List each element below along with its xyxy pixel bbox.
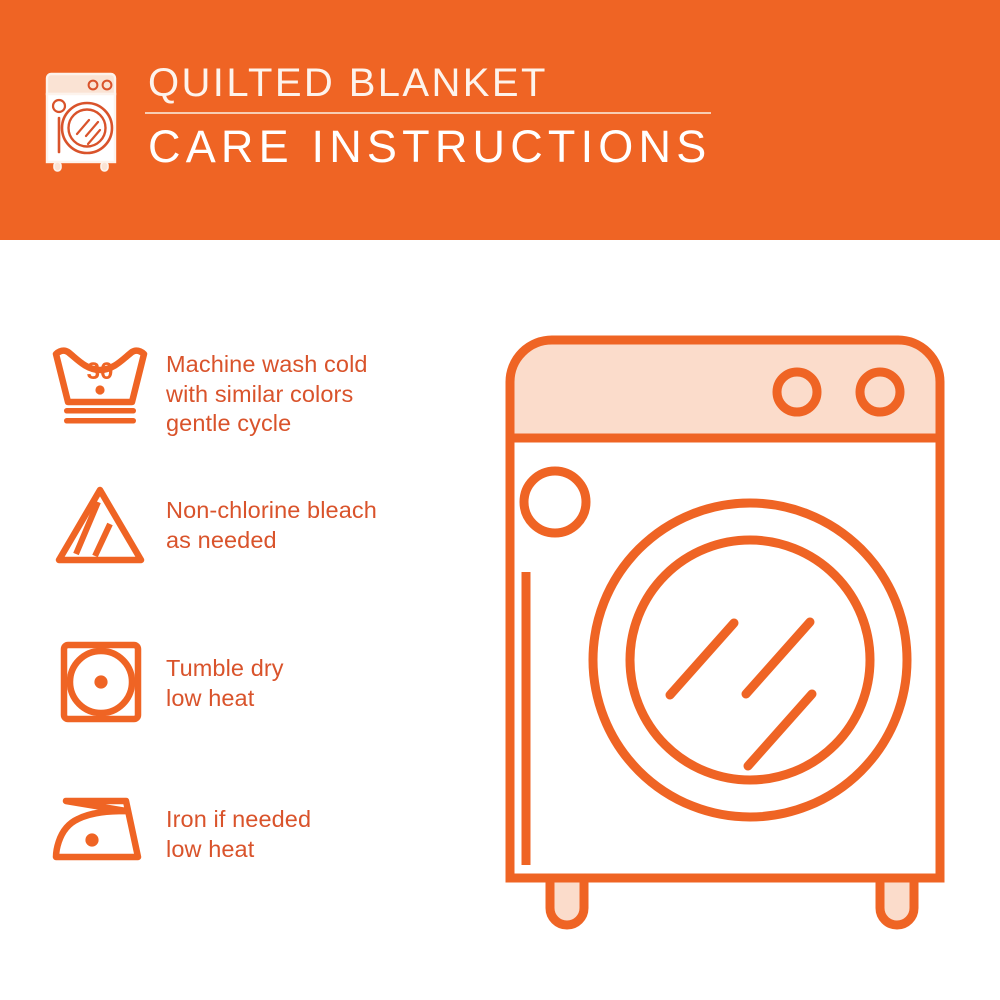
page-title-secondary: CARE INSTRUCTIONS bbox=[145, 122, 711, 172]
wash-dot bbox=[95, 385, 104, 394]
care-icon-wrapper bbox=[48, 785, 166, 875]
leg-right bbox=[880, 878, 914, 925]
care-icon-wrapper: 30 bbox=[48, 340, 166, 430]
care-line: Machine wash cold bbox=[166, 350, 368, 380]
care-icon-wrapper bbox=[48, 638, 166, 728]
knob-left[interactable] bbox=[777, 372, 817, 412]
care-item-tumble-dry: Tumble dry low heat bbox=[48, 638, 488, 728]
care-text-machine-wash: Machine wash cold with similar colors ge… bbox=[166, 340, 368, 439]
page-title-primary: QUILTED BLANKET bbox=[145, 60, 711, 106]
care-text-tumble-dry: Tumble dry low heat bbox=[166, 638, 284, 713]
care-icon-wrapper bbox=[48, 480, 166, 570]
care-text-iron: Iron if needed low heat bbox=[166, 785, 311, 864]
care-line: low heat bbox=[166, 684, 284, 714]
care-item-bleach: Non-chlorine bleach as needed bbox=[48, 480, 488, 570]
care-line: as needed bbox=[166, 526, 377, 556]
care-item-machine-wash: 30 Machine wash cold with similar colors… bbox=[48, 340, 488, 439]
bleach-triangle-icon bbox=[48, 480, 152, 570]
care-line: with similar colors bbox=[166, 380, 368, 410]
washing-machine-illustration bbox=[480, 320, 970, 940]
care-line: gentle cycle bbox=[166, 409, 368, 439]
tumble-dry-icon bbox=[48, 638, 152, 728]
title-divider bbox=[145, 112, 711, 114]
care-line: Tumble dry bbox=[166, 654, 284, 684]
header-banner: QUILTED BLANKET CARE INSTRUCTIONS bbox=[0, 0, 1000, 240]
knob-right[interactable] bbox=[860, 372, 900, 412]
iron-icon bbox=[48, 785, 152, 875]
header-content: QUILTED BLANKET CARE INSTRUCTIONS bbox=[45, 60, 711, 174]
care-text-bleach: Non-chlorine bleach as needed bbox=[166, 480, 377, 555]
dry-heat-dot bbox=[94, 675, 107, 688]
leg-left bbox=[550, 878, 584, 925]
care-line: low heat bbox=[166, 835, 311, 865]
washing-machine-icon bbox=[45, 66, 123, 174]
iron-heat-dot bbox=[85, 833, 98, 846]
care-instruction-list: 30 Machine wash cold with similar colors… bbox=[0, 240, 500, 1000]
care-line: Iron if needed bbox=[166, 805, 311, 835]
gentle-bar-1 bbox=[64, 408, 136, 414]
gentle-bar-2 bbox=[64, 418, 136, 424]
care-item-iron: Iron if needed low heat bbox=[48, 785, 488, 875]
care-line: Non-chlorine bleach bbox=[166, 496, 377, 526]
wash-temperature-label: 30 bbox=[87, 358, 114, 385]
wash-tub-icon: 30 bbox=[48, 340, 152, 430]
title-block: QUILTED BLANKET CARE INSTRUCTIONS bbox=[145, 60, 711, 172]
